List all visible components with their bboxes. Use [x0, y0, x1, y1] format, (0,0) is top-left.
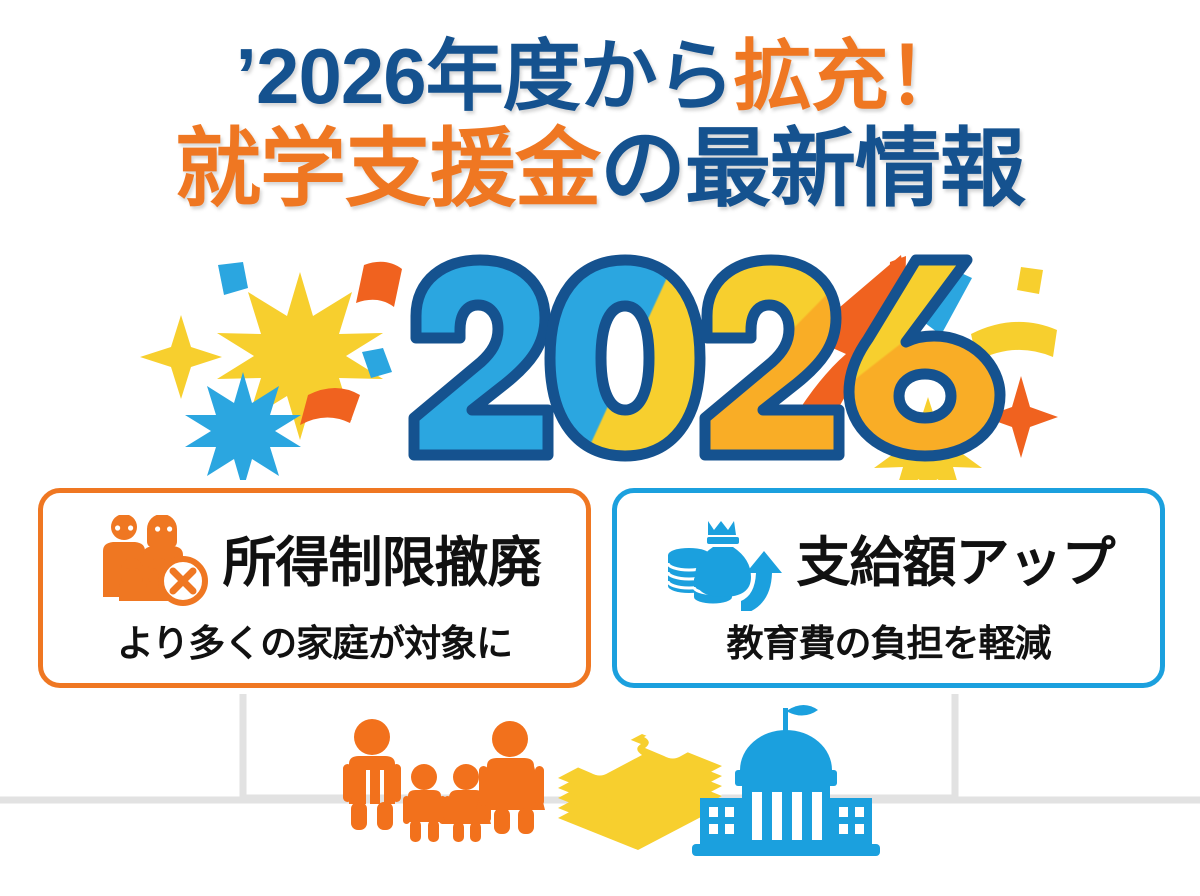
sparkle-4-yellow-icon: [140, 315, 222, 399]
card-head: 支給額アップ: [617, 515, 1160, 611]
family-group-icon: [343, 719, 545, 842]
card-income-limit-abolished[interactable]: 所得制限撤廃 より多くの家庭が対象に: [38, 488, 591, 688]
government-building-icon: [692, 705, 880, 856]
money-bag-icon: [695, 521, 751, 597]
ribbon-orange-icon: [356, 262, 402, 307]
title-line-1-blue: ’2026年度から: [235, 32, 733, 120]
title-line-2-orange: 就学支援金: [175, 121, 600, 217]
card-title: 支給額アップ: [797, 536, 1115, 590]
card-payment-increase[interactable]: 支給額アップ 教育費の負担を軽減: [612, 488, 1165, 688]
family-with-x-icon: [89, 515, 209, 611]
card-head: 所得制限撤廃: [43, 515, 586, 611]
title-line-1: ’2026年度から拡充！: [0, 36, 1200, 118]
infographic-canvas: ’2026年度から拡充！ 就学支援金の最新情報: [0, 0, 1200, 896]
year-digit-2: [705, 260, 839, 455]
hero-year-graphic: [0, 250, 1200, 480]
confetti-left: [140, 262, 402, 480]
year-2026: [414, 260, 1000, 456]
feature-cards: 所得制限撤廃 より多くの家庭が対象に: [0, 488, 1200, 694]
year-digit-0: [550, 260, 700, 456]
diamond-cyan-icon: [218, 262, 248, 295]
cash-stack-icon: [558, 726, 722, 850]
title-line-2: 就学支援金の最新情報: [0, 124, 1200, 214]
title-line-1-orange: 拡充！: [734, 32, 965, 120]
card-subtitle: 教育費の負担を軽減: [727, 625, 1051, 662]
bottom-section: [0, 694, 1200, 884]
prohibition-x-icon: [161, 559, 205, 603]
square-yellow-icon: [1017, 267, 1043, 294]
money-bag-up-arrow-icon: [663, 515, 783, 611]
card-title: 所得制限撤廃: [223, 536, 541, 590]
year-digit-2: [414, 260, 548, 455]
title-block: ’2026年度から拡充！ 就学支援金の最新情報: [0, 36, 1200, 214]
card-subtitle: より多くの家庭が対象に: [117, 625, 512, 662]
title-line-2-blue: の最新情報: [600, 121, 1025, 217]
